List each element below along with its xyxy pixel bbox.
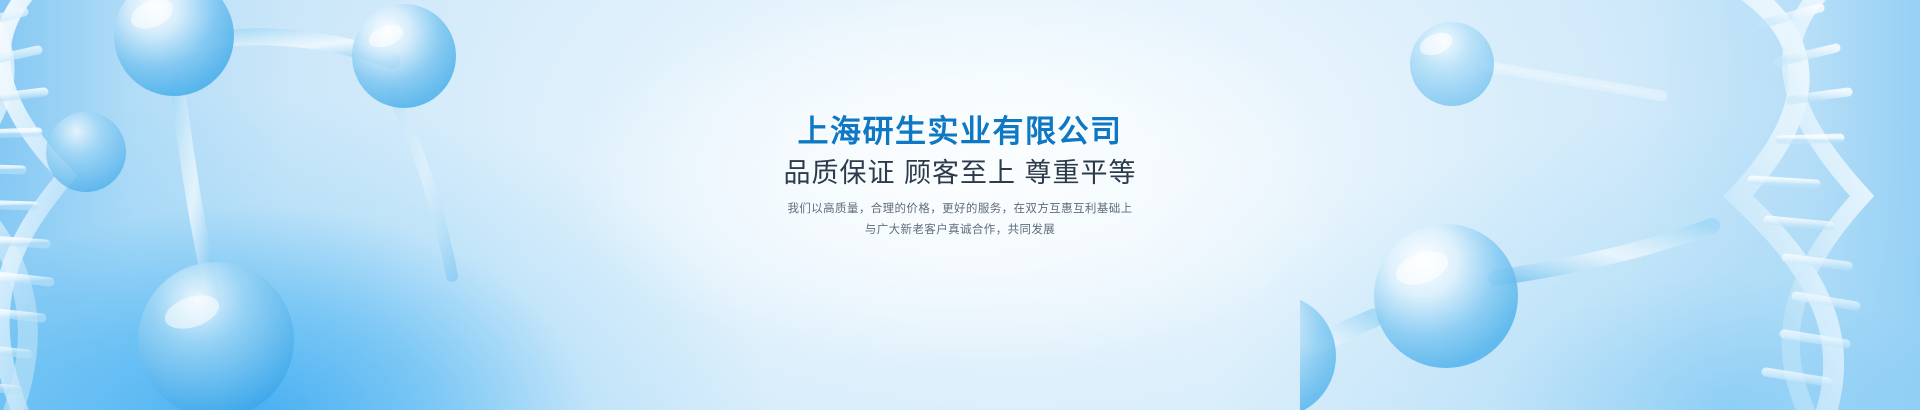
- molecule-sphere-icon: [114, 0, 234, 96]
- company-slogan: 品质保证 顾客至上 尊重平等: [0, 155, 1920, 191]
- company-description: 我们以高质量，合理的价格，更好的服务，在双方互惠互利基础上 与广大新老客户真诚合…: [0, 199, 1920, 241]
- molecule-sphere-icon: [1374, 224, 1518, 368]
- banner-text-block: 上海研生实业有限公司 品质保证 顾客至上 尊重平等 我们以高质量，合理的价格，更…: [0, 112, 1920, 241]
- description-line: 与广大新老客户真诚合作，共同发展: [0, 220, 1920, 241]
- molecule-sphere-icon: [1410, 22, 1494, 106]
- description-line: 我们以高质量，合理的价格，更好的服务，在双方互惠互利基础上: [0, 199, 1920, 220]
- molecule-sphere-icon: [1300, 294, 1336, 410]
- molecule-sphere-icon: [138, 262, 294, 410]
- hero-banner: 上海研生实业有限公司 品质保证 顾客至上 尊重平等 我们以高质量，合理的价格，更…: [0, 0, 1920, 410]
- company-title: 上海研生实业有限公司: [0, 112, 1920, 152]
- molecule-sphere-icon: [352, 4, 456, 108]
